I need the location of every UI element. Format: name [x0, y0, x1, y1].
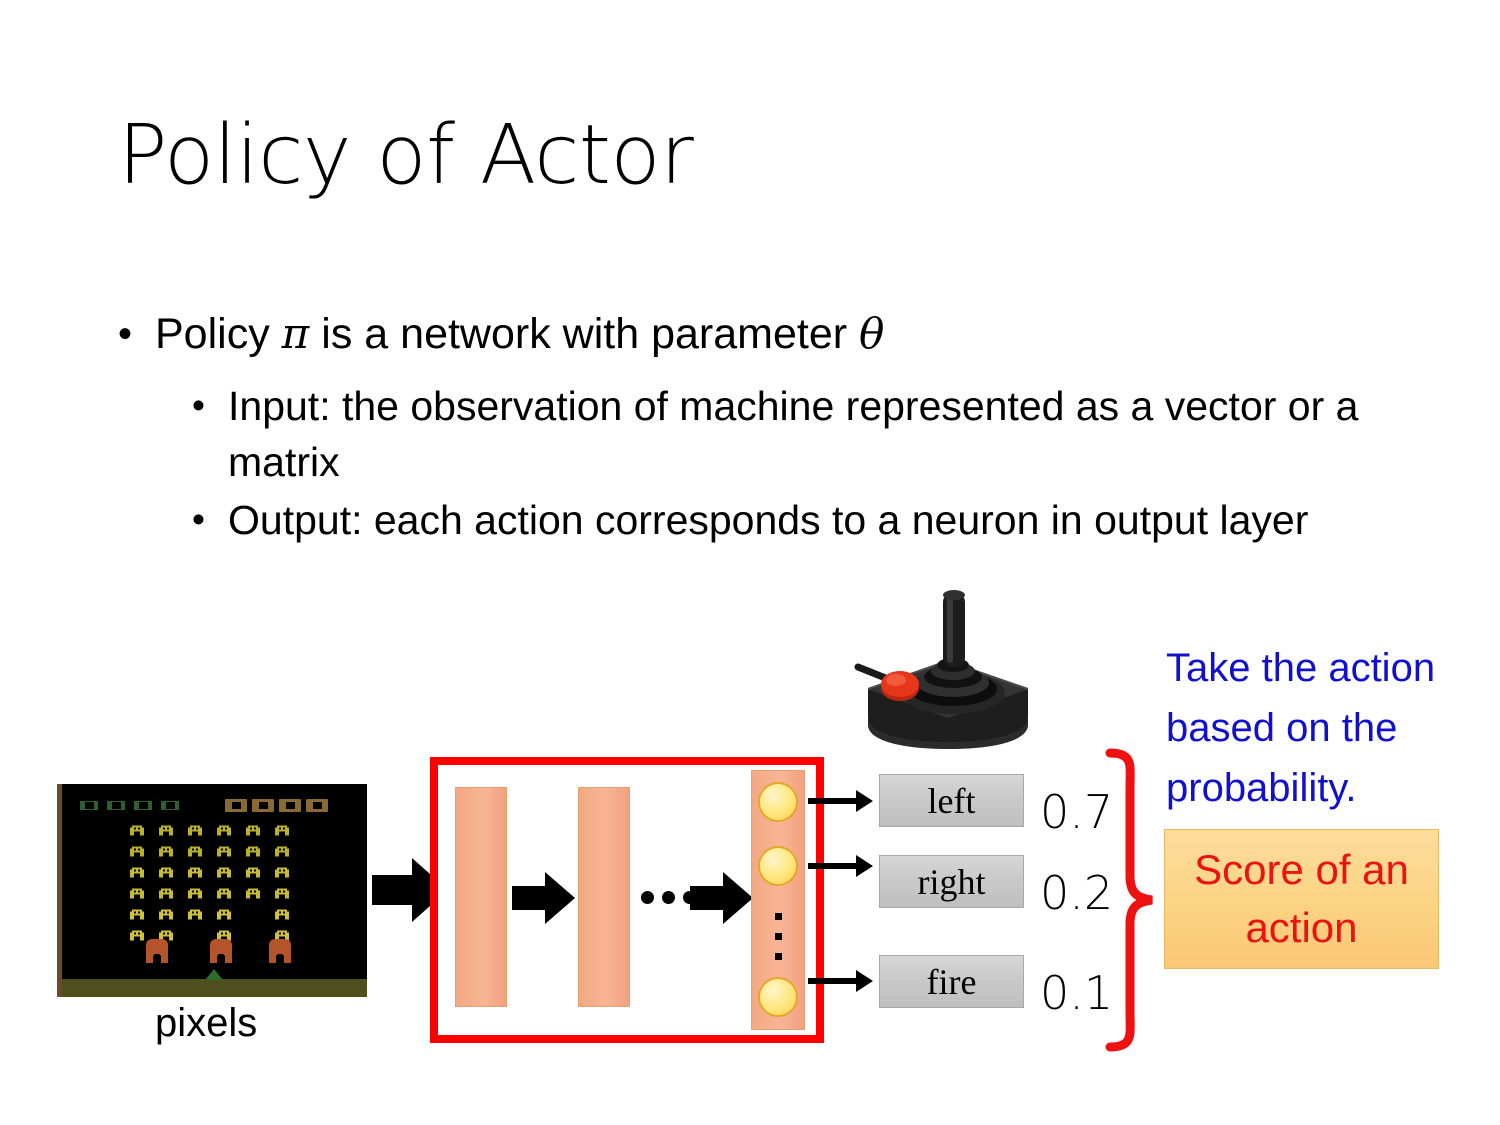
score-box-line2: action	[1194, 899, 1409, 957]
output-neuron-fire	[758, 977, 798, 1017]
score-digit	[78, 799, 100, 812]
alien-sprite	[130, 886, 144, 897]
alien-sprite	[275, 928, 289, 939]
action-arrow-fire-line	[808, 978, 856, 984]
alien-sprite	[275, 823, 289, 834]
output-neuron-right	[758, 846, 798, 886]
score-digit-hole	[85, 802, 94, 809]
action-label-left: left	[928, 780, 976, 822]
score-digit	[225, 799, 247, 812]
alien-sprite	[275, 844, 289, 855]
space-invaders-screenshot	[57, 784, 367, 997]
take-action-line2: based on the	[1166, 698, 1486, 758]
alien-sprite	[130, 865, 144, 876]
action-arrow-right-head-icon	[856, 855, 873, 877]
score-digit-hole	[112, 802, 121, 809]
alien-sprite	[159, 886, 173, 897]
action-label-right: right	[918, 861, 986, 903]
alien-sprite	[130, 844, 144, 855]
alien-sprite	[159, 865, 173, 876]
alien-sprite	[159, 928, 173, 939]
alien-sprite	[275, 886, 289, 897]
take-action-line3: probability.	[1166, 758, 1486, 818]
theta-symbol: θ	[859, 309, 884, 358]
pixels-label: pixels	[155, 1001, 257, 1046]
score-digit	[159, 799, 181, 812]
bullet-marker-icon: •	[118, 306, 152, 362]
action-arrow-left-head-icon	[856, 790, 873, 812]
score-digit-hole	[139, 802, 148, 809]
score-digit	[279, 799, 301, 812]
hidden-layer-2	[578, 787, 630, 1007]
alien-sprite	[217, 865, 231, 876]
score-box-text: Score of an action	[1194, 841, 1409, 957]
action-box-left[interactable]: left	[879, 774, 1024, 827]
layer-arrow-2-icon	[690, 872, 753, 924]
alien-sprite	[246, 886, 260, 897]
score-box-line1: Score of an	[1194, 841, 1409, 899]
score-digit-hole	[313, 802, 322, 809]
bunker-sprite	[210, 939, 232, 963]
game-ground	[62, 979, 367, 997]
alien-sprite	[275, 907, 289, 918]
score-digit-hole	[259, 802, 268, 809]
alien-sprite	[188, 823, 202, 834]
alien-sprite	[159, 907, 173, 918]
alien-sprite	[188, 865, 202, 876]
alien-sprite	[217, 928, 231, 939]
action-label-fire: fire	[927, 961, 977, 1003]
alien-sprite	[159, 823, 173, 834]
bullet-level1-text: Policy π is a network with parameter θ	[155, 306, 884, 362]
take-action-annotation: Take the action based on the probability…	[1166, 638, 1486, 818]
score-digit	[306, 799, 328, 812]
player-ship	[205, 969, 223, 980]
alien-sprite	[188, 844, 202, 855]
score-digit	[132, 799, 154, 812]
layer-arrow-1-icon	[512, 872, 575, 924]
ellipsis-dot-2	[662, 891, 675, 904]
bullet-l1-part2: is a network with parameter	[309, 310, 859, 358]
alien-sprite	[246, 823, 260, 834]
score-digit-hole	[232, 802, 241, 809]
neuron-ellipsis-dot-2	[775, 933, 782, 940]
alien-sprite	[217, 844, 231, 855]
bullet-level2-output-text: Output: each action corresponds to a neu…	[228, 492, 1408, 548]
alien-sprite	[217, 886, 231, 897]
neuron-ellipsis-dot-1	[775, 913, 782, 920]
score-digit	[252, 799, 274, 812]
bunker-sprite	[269, 939, 291, 963]
alien-sprite	[130, 823, 144, 834]
alien-sprite	[130, 928, 144, 939]
alien-sprite	[188, 886, 202, 897]
score-digit-hole	[166, 802, 175, 809]
ellipsis-dot-1	[641, 891, 654, 904]
score-digit-hole	[286, 802, 295, 809]
alien-sprite	[217, 823, 231, 834]
bullet-level2-input-text: Input: the observation of machine repres…	[228, 378, 1408, 490]
alien-sprite	[159, 844, 173, 855]
bullet-marker-icon: •	[192, 492, 224, 548]
alien-sprite	[246, 844, 260, 855]
bunker-sprite	[146, 939, 168, 963]
score-brace-icon	[1100, 748, 1172, 1053]
output-layer	[751, 770, 805, 1030]
alien-sprite	[217, 907, 231, 918]
take-action-line1: Take the action	[1166, 638, 1486, 698]
output-neuron-left	[758, 782, 798, 822]
pi-symbol: π	[282, 309, 310, 358]
alien-sprite	[188, 907, 202, 918]
bullet-marker-icon: •	[192, 378, 224, 434]
page-title: Policy of Actor	[118, 108, 693, 204]
hidden-layer-1	[455, 787, 507, 1007]
action-arrow-fire-head-icon	[856, 970, 873, 992]
score-digit	[105, 799, 127, 812]
action-arrow-left-line	[808, 798, 856, 804]
neuron-ellipsis-dot-3	[775, 953, 782, 960]
bullet-l1-part1: Policy	[155, 310, 282, 358]
alien-sprite	[246, 865, 260, 876]
score-of-action-box: Score of an action	[1164, 829, 1439, 969]
atari-joystick	[850, 585, 1045, 765]
action-box-right[interactable]: right	[879, 855, 1024, 908]
alien-sprite	[130, 907, 144, 918]
action-arrow-right-line	[808, 863, 856, 869]
alien-sprite	[275, 865, 289, 876]
action-box-fire[interactable]: fire	[879, 955, 1024, 1008]
slide-canvas: Policy of Actor • Policy π is a network …	[0, 0, 1500, 1125]
